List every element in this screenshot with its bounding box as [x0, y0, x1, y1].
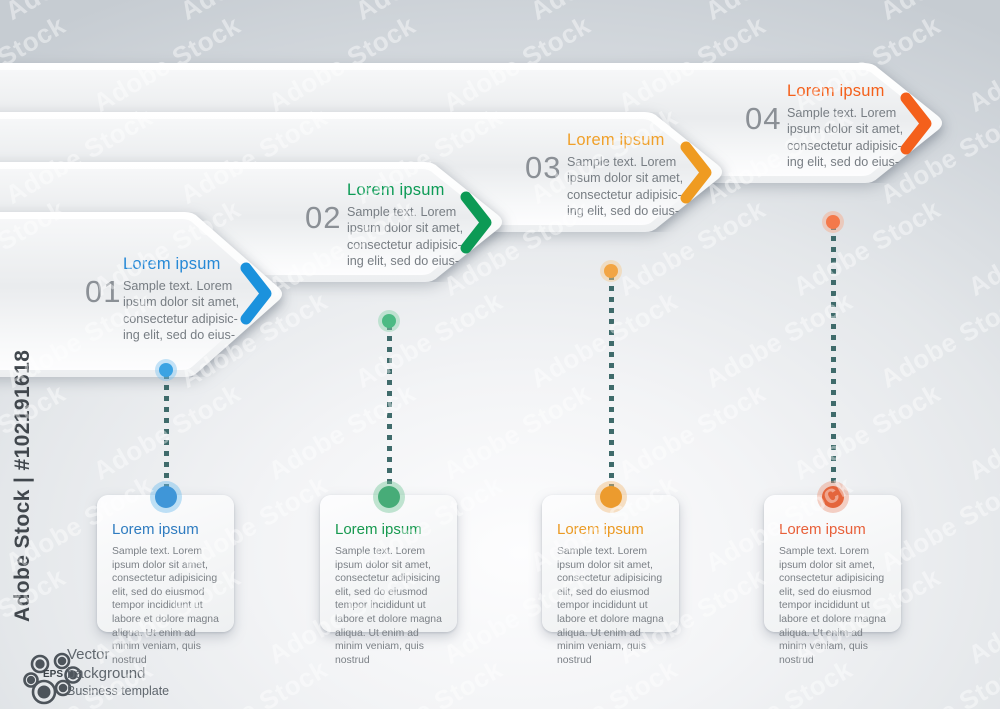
card-body-3: Sample text. Lorem ipsum dolor sit amet,…	[557, 545, 669, 667]
band-body-2: Sample text. Lorem ipsum dolor sit amet,…	[347, 204, 467, 270]
watermark-text: Adobe Stock	[350, 286, 508, 395]
band-node-3	[600, 260, 622, 282]
card-node-2	[373, 481, 405, 513]
watermark-text: Adobe Stock	[263, 378, 421, 487]
watermark-text: Adobe Stock	[788, 194, 946, 303]
watermark-text: Adobe Stock	[963, 194, 1000, 303]
chevron-right-icon-2[interactable]	[460, 191, 494, 254]
detail-card-4[interactable]: Lorem ipsum Sample text. Lorem ipsum dol…	[764, 495, 901, 632]
watermark-text: Adobe Stock	[788, 378, 946, 487]
band-body-3: Sample text. Lorem ipsum dolor sit amet,…	[567, 154, 687, 220]
detail-card-2[interactable]: Lorem ipsum Sample text. Lorem ipsum dol…	[320, 495, 457, 632]
watermark-text: Adobe Stock	[525, 0, 683, 27]
card-title-2: Lorem ipsum	[335, 521, 422, 538]
eps-label: EPS	[43, 669, 63, 680]
connector-line-3	[609, 275, 614, 495]
card-title-3: Lorem ipsum	[557, 521, 644, 538]
watermark-text: Adobe Stock	[0, 0, 158, 27]
band-number-3: 03	[525, 150, 561, 186]
chevron-right-icon-4[interactable]	[900, 92, 934, 155]
watermark-text: Adobe Stock	[963, 562, 1000, 671]
band-node-4	[822, 211, 844, 233]
card-body-4: Sample text. Lorem ipsum dolor sit amet,…	[779, 545, 891, 667]
band-number-4: 04	[745, 101, 781, 137]
connector-line-1	[164, 374, 169, 494]
band-node-1	[155, 359, 177, 381]
watermark-text: Adobe Stock	[875, 654, 1000, 709]
band-body-1: Sample text. Lorem ipsum dolor sit amet,…	[123, 278, 243, 344]
watermark-text: Adobe Stock	[963, 378, 1000, 487]
connector-line-4	[831, 225, 836, 495]
watermark-text: Adobe Stock	[875, 286, 1000, 395]
watermark-text: Adobe Stock	[963, 10, 1000, 119]
footer-line-1: Vector	[67, 645, 169, 664]
card-node-3	[595, 481, 627, 513]
watermark-text: Adobe Stock	[700, 0, 858, 27]
band-title-2: Lorem ipsum	[347, 181, 445, 200]
watermark-text: Adobe Stock	[175, 0, 333, 27]
band-node-2	[378, 310, 400, 332]
connector-line-2	[387, 325, 392, 495]
band-title-4: Lorem ipsum	[787, 82, 885, 101]
card-node-1	[150, 481, 182, 513]
card-body-2: Sample text. Lorem ipsum dolor sit amet,…	[335, 545, 447, 667]
card-title-1: Lorem ipsum	[112, 521, 199, 538]
watermark-text: Adobe Stock	[525, 286, 683, 395]
watermark-text: Adobe Stock	[438, 378, 596, 487]
chevron-right-icon-1[interactable]	[240, 262, 274, 325]
chevron-right-icon-3[interactable]	[680, 141, 714, 204]
footer-caption: Vector background Business template	[67, 645, 169, 698]
detail-card-3[interactable]: Lorem ipsum Sample text. Lorem ipsum dol…	[542, 495, 679, 632]
band-body-4: Sample text. Lorem ipsum dolor sit amet,…	[787, 105, 907, 171]
footer-line-3: Business template	[67, 684, 169, 698]
stock-id-watermark: Adobe Stock | #102191618	[11, 422, 35, 622]
watermark-text: Adobe Stock	[350, 0, 508, 27]
infographic-canvas: 04 Lorem ipsum Sample text. Lorem ipsum …	[0, 0, 1000, 709]
band-number-2: 02	[305, 200, 341, 236]
card-title-4: Lorem ipsum	[779, 521, 866, 538]
band-number-1: 01	[85, 274, 121, 310]
watermark-text: Adobe Stock	[875, 0, 1000, 27]
band-title-3: Lorem ipsum	[567, 131, 665, 150]
footer-line-2: background	[67, 664, 169, 683]
detail-card-1[interactable]: Lorem ipsum Sample text. Lorem ipsum dol…	[97, 495, 234, 632]
card-node-4	[817, 481, 849, 513]
step-band-1[interactable]: 01 Lorem ipsum Sample text. Lorem ipsum …	[0, 212, 302, 377]
watermark-text: Adobe Stock	[613, 378, 771, 487]
band-title-1: Lorem ipsum	[123, 255, 221, 274]
